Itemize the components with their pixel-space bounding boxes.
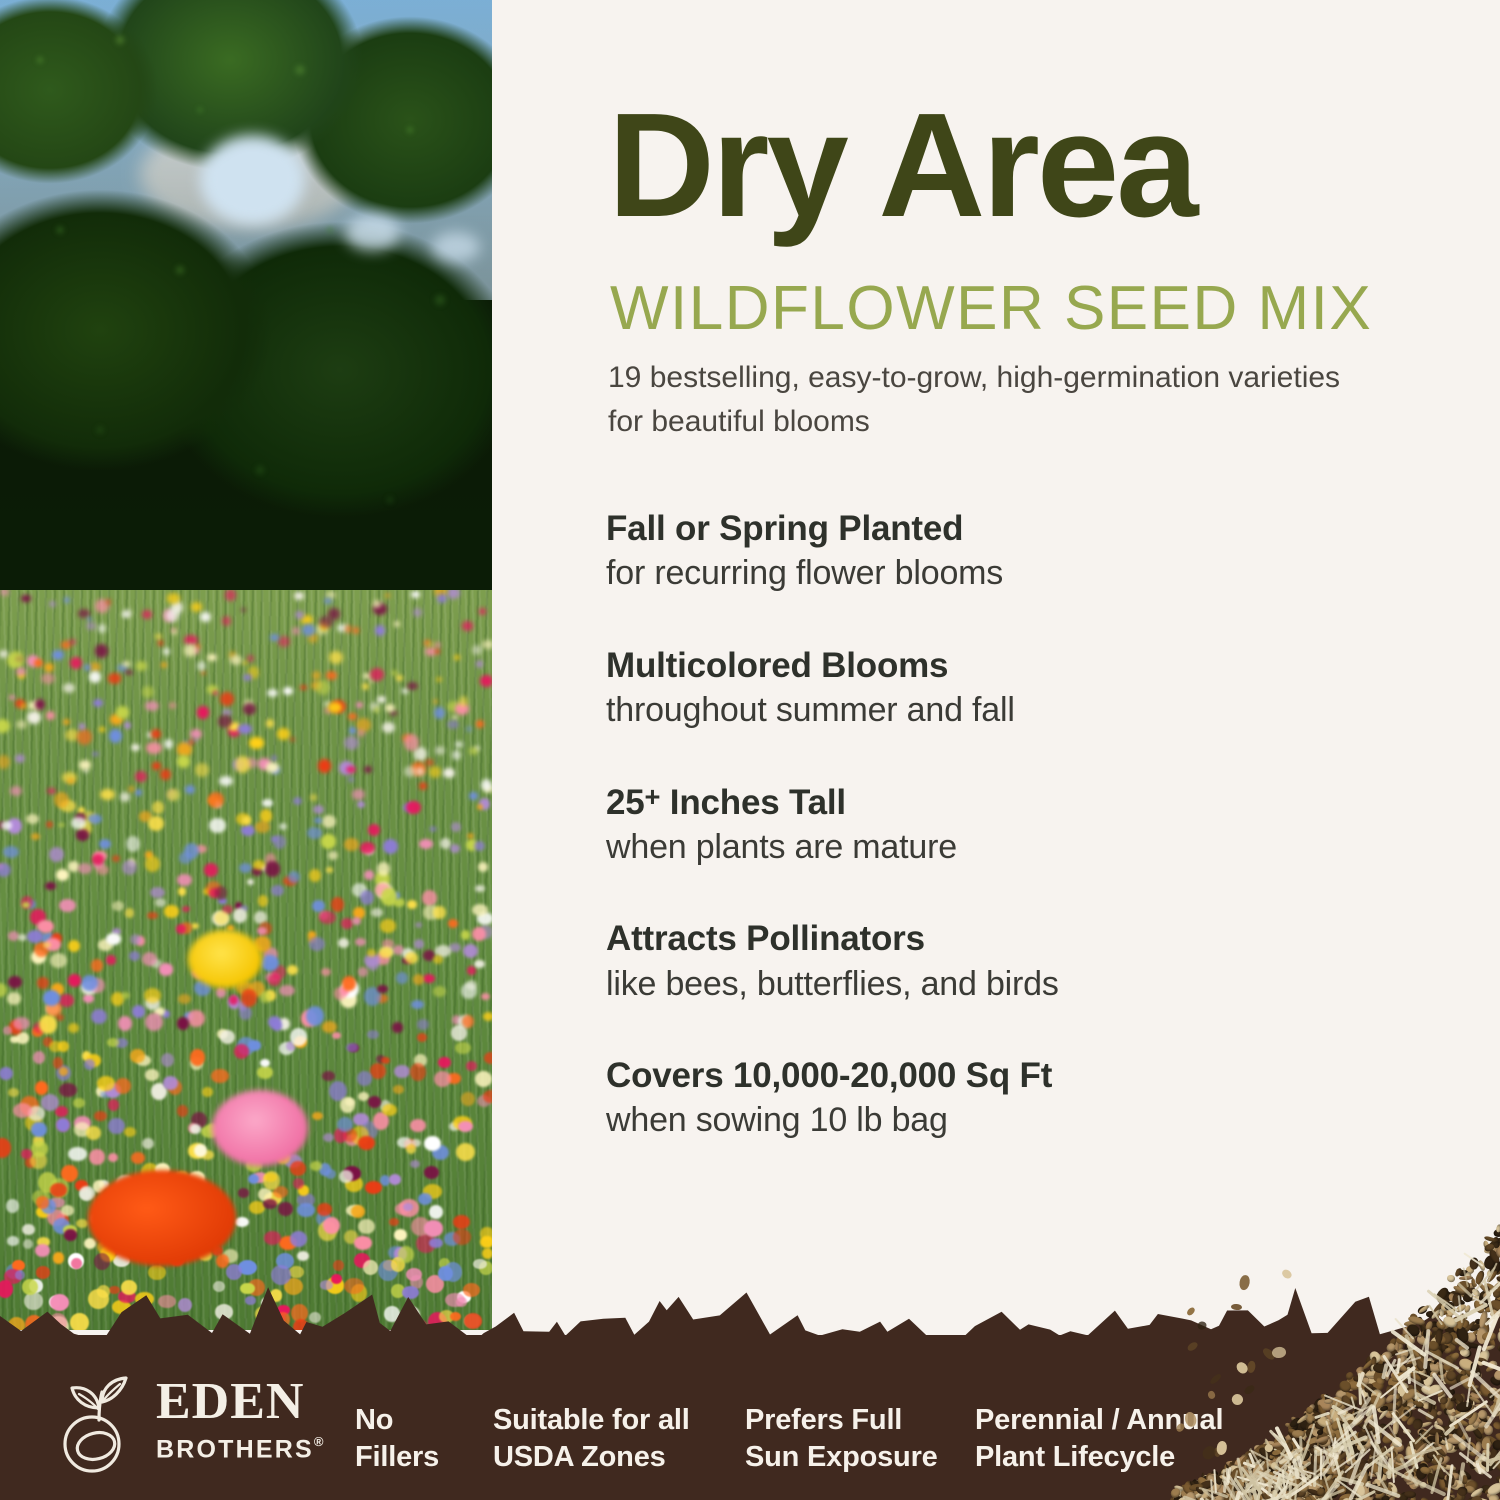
flower-bloom [261, 955, 278, 971]
flower-bloom [115, 1078, 131, 1094]
flower-bloom [375, 625, 385, 635]
flower-bloom [108, 1118, 124, 1135]
flower-bloom [476, 660, 483, 667]
flower-bloom [242, 816, 251, 825]
flower-bloom [99, 839, 111, 850]
flower-bloom [294, 592, 303, 600]
feature-item: Covers 10,000-20,000 Sq Ft when sowing 1… [606, 1055, 1406, 1142]
flower-bloom [68, 974, 80, 987]
flower-bloom [302, 624, 315, 636]
wildflower-meadow [0, 590, 492, 1330]
flower-bloom [200, 612, 210, 623]
flower-bloom [145, 1069, 160, 1081]
flower-bloom [429, 766, 441, 778]
footer-item-line1: Suitable for all [493, 1402, 690, 1439]
flower-bloom [382, 722, 395, 733]
flower-bloom [472, 904, 488, 916]
flower-bloom [310, 794, 317, 801]
flower-bloom [177, 874, 191, 887]
flower-bloom [411, 1000, 423, 1009]
flower-bloom [346, 766, 355, 774]
flower-bloom [462, 1015, 474, 1028]
flower-bloom [462, 621, 473, 631]
flower-bloom [191, 602, 202, 612]
flower-bloom [448, 919, 458, 928]
flower-bloom [364, 766, 372, 773]
flower-bloom [293, 797, 302, 804]
flower-bloom [209, 818, 225, 833]
flower-bloom [435, 649, 441, 654]
flower-bloom [435, 746, 445, 755]
flower-bloom [365, 1181, 382, 1194]
flower-bloom [424, 1166, 439, 1179]
flower-bloom [344, 736, 359, 750]
flower-bloom [292, 627, 299, 635]
flower-bloom [229, 995, 238, 1005]
flower-bloom [22, 1224, 35, 1235]
flower-bloom [3, 1026, 12, 1036]
seedling-icon [52, 1372, 148, 1476]
flower-bloom [377, 696, 386, 704]
flower-bloom [83, 994, 94, 1002]
feature-title: Multicolored Blooms [606, 645, 1406, 686]
product-feature-card: Dry Area WILDFLOWER SEED MIX 19 bestsell… [0, 0, 1500, 1500]
flower-bloom [7, 992, 21, 1005]
feature-subtitle: when plants are mature [606, 827, 1406, 868]
flower-bloom [96, 865, 109, 875]
flower-bloom [389, 1218, 399, 1226]
tree-line [0, 0, 492, 640]
flower-bloom [414, 939, 425, 948]
flower-bloom [238, 724, 251, 735]
flower-bloom [360, 890, 374, 905]
flower-bloom [68, 940, 80, 952]
flower-bloom [92, 854, 103, 865]
flower-bloom [214, 911, 229, 925]
flower-bloom [184, 644, 197, 657]
flower-bloom [459, 696, 469, 706]
flower-bloom [317, 1203, 332, 1216]
flower-bloom [241, 989, 257, 1006]
flower-bloom [97, 1076, 115, 1091]
flower-bloom [77, 729, 92, 745]
flower-bloom [71, 817, 86, 830]
flower-bloom [447, 720, 459, 729]
flower-bloom [241, 825, 255, 836]
flower-bloom [177, 1017, 189, 1030]
trademark-symbol: ® [314, 1434, 324, 1449]
flower-bloom [381, 888, 397, 905]
flower-bloom [418, 1193, 432, 1205]
footer-item-line2: Fillers [355, 1439, 439, 1476]
flower-bloom [225, 590, 237, 601]
flower-bloom [450, 844, 460, 853]
flower-bloom [263, 1199, 276, 1209]
footer-item-line1: Perennial / Annual [975, 1402, 1223, 1439]
flower-bloom [53, 1252, 64, 1263]
flower-bloom [70, 657, 82, 669]
flower-bloom [295, 611, 304, 619]
flower-bloom [385, 593, 390, 598]
flower-bloom [10, 651, 24, 667]
flower-bloom [323, 1133, 334, 1142]
flower-bloom [144, 988, 161, 1003]
footer-item-line2: Plant Lifecycle [975, 1439, 1223, 1476]
feature-subtitle: when sowing 10 lb bag [606, 1100, 1406, 1141]
flower-bloom [451, 822, 461, 833]
flower-bloom [342, 976, 356, 991]
flower-bloom [160, 769, 170, 780]
product-title: Dry Area [608, 92, 1196, 240]
flower-bloom [322, 815, 336, 828]
flower-bloom [146, 742, 161, 754]
brand-name-top: EDEN [156, 1376, 323, 1428]
flower-bloom [352, 917, 361, 925]
flower-bloom [398, 1246, 414, 1263]
flower-bloom [328, 702, 342, 713]
footer-item-no-fillers: No Fillers [355, 1402, 439, 1476]
flower-bloom [410, 1160, 420, 1168]
flower-bloom [176, 924, 187, 934]
flower-bloom [202, 1087, 212, 1097]
flower-bloom [312, 1112, 323, 1120]
flower-bloom [253, 860, 265, 870]
flower-bloom [329, 651, 343, 663]
flower-bloom [135, 771, 146, 782]
flower-bloom [178, 994, 190, 1004]
flower-bloom [125, 908, 135, 917]
flower-bloom [49, 601, 56, 606]
flower-bloom [155, 634, 162, 639]
flower-bloom [380, 919, 397, 933]
flower-bloom [194, 1144, 207, 1157]
flower-bloom [0, 755, 10, 769]
feature-title-number: 25 [606, 783, 645, 822]
flower-bloom [411, 591, 419, 597]
flower-bloom [461, 1092, 475, 1106]
flower-bloom [396, 972, 408, 983]
feature-title-rest: Inches Tall [660, 783, 846, 822]
flower-bloom [255, 821, 270, 833]
flower-bloom [3, 846, 19, 858]
flower-bloom [279, 823, 287, 830]
flower-bloom [373, 600, 381, 608]
flower-bloom [410, 1063, 426, 1081]
flower-bloom [314, 817, 323, 824]
flower-bloom [10, 786, 22, 796]
flower-bloom [249, 1201, 264, 1213]
flower-bloom [260, 991, 271, 1003]
flower-bloom [273, 835, 286, 849]
flower-bloom [208, 792, 223, 808]
flower-bloom [417, 1019, 429, 1031]
flower-bloom [27, 930, 43, 943]
flower-bloom [290, 1161, 306, 1175]
flower-bloom [46, 821, 52, 828]
flower-bloom [480, 1227, 492, 1241]
flower-bloom [434, 707, 445, 718]
flower-bloom [309, 937, 325, 951]
flower-bloom [167, 789, 180, 802]
flower-bloom [243, 674, 251, 680]
feature-item: 25+ Inches Tall when plants are mature [606, 782, 1406, 869]
flower-bloom [13, 1017, 30, 1030]
flower-bloom [453, 1229, 471, 1245]
flower-bloom [41, 1094, 59, 1111]
flower-bloom [481, 779, 492, 791]
flower-bloom [125, 670, 132, 675]
flower-bloom [324, 598, 332, 604]
flower-bloom [469, 792, 478, 800]
footer-item-plant-lifecycle: Perennial / Annual Plant Lifecycle [975, 1402, 1223, 1476]
flower-bloom [429, 1238, 443, 1248]
flower-bloom [164, 905, 178, 918]
flower-bloom [258, 895, 268, 907]
hero-photo [0, 0, 492, 1330]
flower-bloom [108, 1153, 118, 1162]
flower-bloom [158, 640, 163, 646]
flower-bloom [129, 951, 140, 961]
flower-bloom [108, 1099, 119, 1111]
flower-bloom [434, 1071, 451, 1087]
flower-bloom [433, 986, 446, 997]
flower-bloom [367, 949, 376, 956]
flower-bloom [476, 720, 484, 727]
flower-bloom [422, 890, 437, 906]
flower-bloom [18, 934, 27, 940]
flower-bloom [106, 955, 117, 964]
flower-bloom [355, 938, 366, 946]
flower-bloom [94, 1253, 110, 1270]
flower-bloom [235, 756, 251, 772]
feature-item: Attracts Pollinators like bees, butterfl… [606, 918, 1406, 1005]
flower-bloom [322, 1071, 334, 1081]
flower-bloom [197, 661, 206, 671]
flower-bloom [266, 719, 274, 728]
flower-bloom [389, 1174, 401, 1185]
flower-bloom [207, 654, 217, 661]
footer-item-line2: Sun Exposure [745, 1439, 938, 1476]
foliage-texture [0, 0, 492, 640]
flower-bloom [482, 640, 492, 649]
flower-bloom [424, 1136, 441, 1151]
feature-title: Fall or Spring Planted [606, 508, 1406, 549]
feature-subtitle: for recurring flower blooms [606, 553, 1406, 594]
flower-bloom [484, 1052, 492, 1064]
footer-item-line2: USDA Zones [493, 1439, 690, 1476]
flower-bloom [35, 1081, 48, 1095]
flower-bloom [344, 838, 358, 851]
flower-bloom [247, 655, 254, 662]
flower-bloom [338, 938, 349, 948]
flower-bloom [13, 1103, 32, 1118]
flower-bloom [163, 1076, 178, 1090]
flower-bloom [379, 947, 393, 959]
flower-bloom [31, 1141, 48, 1157]
flower-bloom [326, 867, 333, 873]
flower-bloom [89, 671, 100, 683]
flower-bloom [94, 1111, 107, 1122]
flower-bloom [213, 691, 218, 695]
feature-title: 25+ Inches Tall [606, 782, 1406, 823]
flower-bloom [313, 805, 325, 814]
flower-bloom [482, 1248, 492, 1259]
flower-bloom [467, 833, 474, 839]
flower-bloom [381, 1057, 390, 1064]
feature-title: Covers 10,000-20,000 Sq Ft [606, 1055, 1406, 1096]
flower-bloom [151, 729, 161, 739]
flower-bloom [475, 885, 485, 892]
flower-bloom [112, 901, 124, 910]
flower-bloom [413, 974, 424, 985]
flower-bloom [55, 1106, 68, 1117]
flower-bloom [466, 726, 473, 732]
flower-bloom [95, 644, 108, 658]
footer-item-sun-exposure: Prefers Full Sun Exposure [745, 1402, 938, 1476]
flower-bloom [403, 1203, 413, 1211]
flower-bloom [406, 801, 421, 814]
flower-bloom [50, 953, 67, 968]
flower-bloom [483, 1012, 492, 1021]
flower-bloom [131, 744, 140, 751]
flower-bloom [59, 1083, 78, 1097]
flower-bloom [79, 760, 91, 770]
flower-bloom [8, 1088, 20, 1097]
flower-bloom [326, 671, 337, 679]
flower-bloom [147, 912, 157, 920]
flower-bloom [407, 900, 417, 909]
flower-bloom [321, 834, 337, 849]
flower-bloom [349, 727, 356, 733]
flower-bloom [371, 908, 383, 918]
flower-bloom [67, 778, 75, 784]
flower-bloom [41, 673, 55, 684]
flower-bloom [167, 593, 180, 603]
flower-bloom [190, 1049, 205, 1066]
footer: EDEN BROTHERS® No Fillers Suitable for a… [0, 1290, 1500, 1500]
flower-bloom [185, 785, 195, 794]
feature-subtitle: like bees, butterflies, and birds [606, 964, 1406, 1005]
flower-bloom [59, 899, 76, 912]
flower-bloom [56, 1118, 69, 1132]
flower-bloom [447, 590, 459, 599]
flower-bloom [10, 1036, 18, 1044]
flower-bloom [266, 762, 279, 772]
flower-bloom [456, 1143, 475, 1161]
flower-bloom [84, 664, 90, 671]
brand-wordmark: EDEN BROTHERS® [156, 1376, 323, 1463]
flower-bloom [126, 836, 141, 852]
flower-bloom [394, 621, 400, 627]
flower-bloom [461, 930, 470, 939]
flower-bloom [64, 1229, 77, 1240]
flower-bloom [76, 829, 88, 841]
flower-bloom [130, 1049, 144, 1063]
flower-bloom [479, 608, 486, 615]
flower-bloom [31, 833, 40, 840]
flower-bloom [124, 1127, 136, 1137]
footer-item-line1: No [355, 1402, 439, 1439]
flower-bloom [416, 767, 425, 776]
feature-item: Fall or Spring Planted for recurring flo… [606, 508, 1406, 595]
flower-bloom [297, 1251, 309, 1261]
flower-bloom [6, 1199, 19, 1213]
flower-bloom [429, 826, 437, 832]
flower-bloom [220, 1030, 235, 1044]
flower-bloom [357, 801, 365, 808]
flower-bloom [300, 685, 307, 690]
feature-list: Fall or Spring Planted for recurring flo… [606, 508, 1406, 1142]
flower-bloom [348, 713, 356, 720]
flower-bloom [478, 862, 488, 872]
flower-bloom [312, 671, 321, 680]
flower-bloom [78, 863, 92, 874]
flower-bloom [267, 689, 278, 697]
flower-bloom [351, 1205, 365, 1218]
feature-title-plus: + [645, 780, 661, 811]
flower-bloom [159, 963, 174, 976]
flower-bloom [39, 1015, 57, 1035]
flower-bloom [8, 976, 22, 988]
flower-bloom [16, 667, 26, 675]
flower-bloom [92, 752, 99, 757]
flower-bloom [130, 934, 141, 945]
poppy-bloom [88, 1170, 236, 1266]
flower-bloom [109, 729, 122, 743]
flower-bloom [332, 1032, 341, 1039]
flower-bloom [100, 789, 115, 800]
flower-bloom [195, 763, 209, 777]
flower-bloom [98, 624, 106, 632]
flower-bloom [68, 1147, 87, 1161]
flower-bloom [271, 885, 283, 897]
flower-bloom [161, 662, 167, 668]
flower-bloom [368, 824, 380, 836]
flower-bloom [49, 1041, 61, 1053]
flower-bloom [257, 1066, 273, 1079]
flower-bloom [84, 1059, 95, 1070]
flower-bloom [424, 1220, 443, 1236]
flower-bloom [179, 852, 192, 864]
flower-bloom [297, 1203, 315, 1218]
flower-bloom [385, 704, 395, 712]
flower-bloom [211, 1069, 228, 1083]
flower-bloom [191, 923, 199, 929]
flower-bloom [413, 608, 421, 616]
flower-bloom [368, 1096, 381, 1108]
flower-bloom [277, 728, 289, 740]
flower-bloom [357, 1071, 372, 1086]
flower-bloom [264, 1173, 277, 1182]
flower-bloom [148, 816, 164, 831]
flower-bloom [474, 960, 484, 968]
flower-bloom [197, 706, 209, 718]
flower-bloom [382, 1104, 397, 1116]
flower-bloom [404, 734, 419, 751]
flower-bloom [16, 720, 27, 730]
flower-bloom [47, 788, 55, 794]
product-subtitle: WILDFLOWER SEED MIX [610, 278, 1372, 340]
flower-bloom [467, 966, 475, 975]
flower-bloom [306, 1006, 324, 1026]
flower-bloom [163, 648, 170, 654]
flower-bloom [21, 595, 31, 602]
flower-bloom [367, 1030, 379, 1039]
flower-bloom [356, 702, 364, 708]
flower-bloom [362, 683, 369, 690]
flower-bloom [177, 1105, 187, 1117]
flower-bloom [452, 750, 462, 759]
